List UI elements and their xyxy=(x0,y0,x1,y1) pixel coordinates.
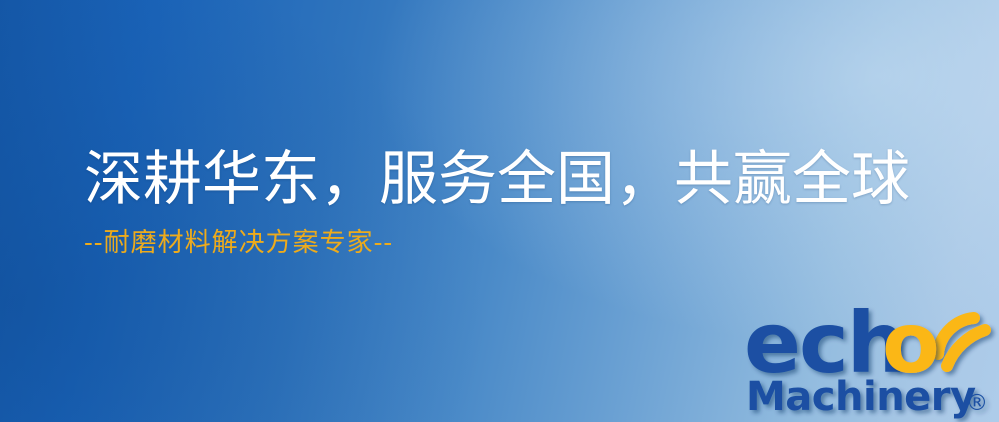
registered-trademark-symbol: ® xyxy=(966,391,988,416)
echo-machinery-logo[interactable]: ech o Machinery ® xyxy=(742,292,999,422)
banner-subtitle: --耐磨材料解决方案专家-- xyxy=(84,229,910,258)
signal-arcs-icon xyxy=(938,318,985,366)
promotional-banner: 深耕华东，服务全国，共赢全球 --耐磨材料解决方案专家-- ech o xyxy=(0,0,999,422)
logo-tagline-machinery: Machinery ® xyxy=(746,374,988,420)
banner-headline: 深耕华东，服务全国，共赢全球 xyxy=(84,148,910,211)
svg-text:Machinery: Machinery xyxy=(746,374,976,420)
logo-artwork: ech o Machinery ® xyxy=(742,292,999,422)
banner-text-block: 深耕华东，服务全国，共赢全球 --耐磨材料解决方案专家-- xyxy=(84,148,910,257)
